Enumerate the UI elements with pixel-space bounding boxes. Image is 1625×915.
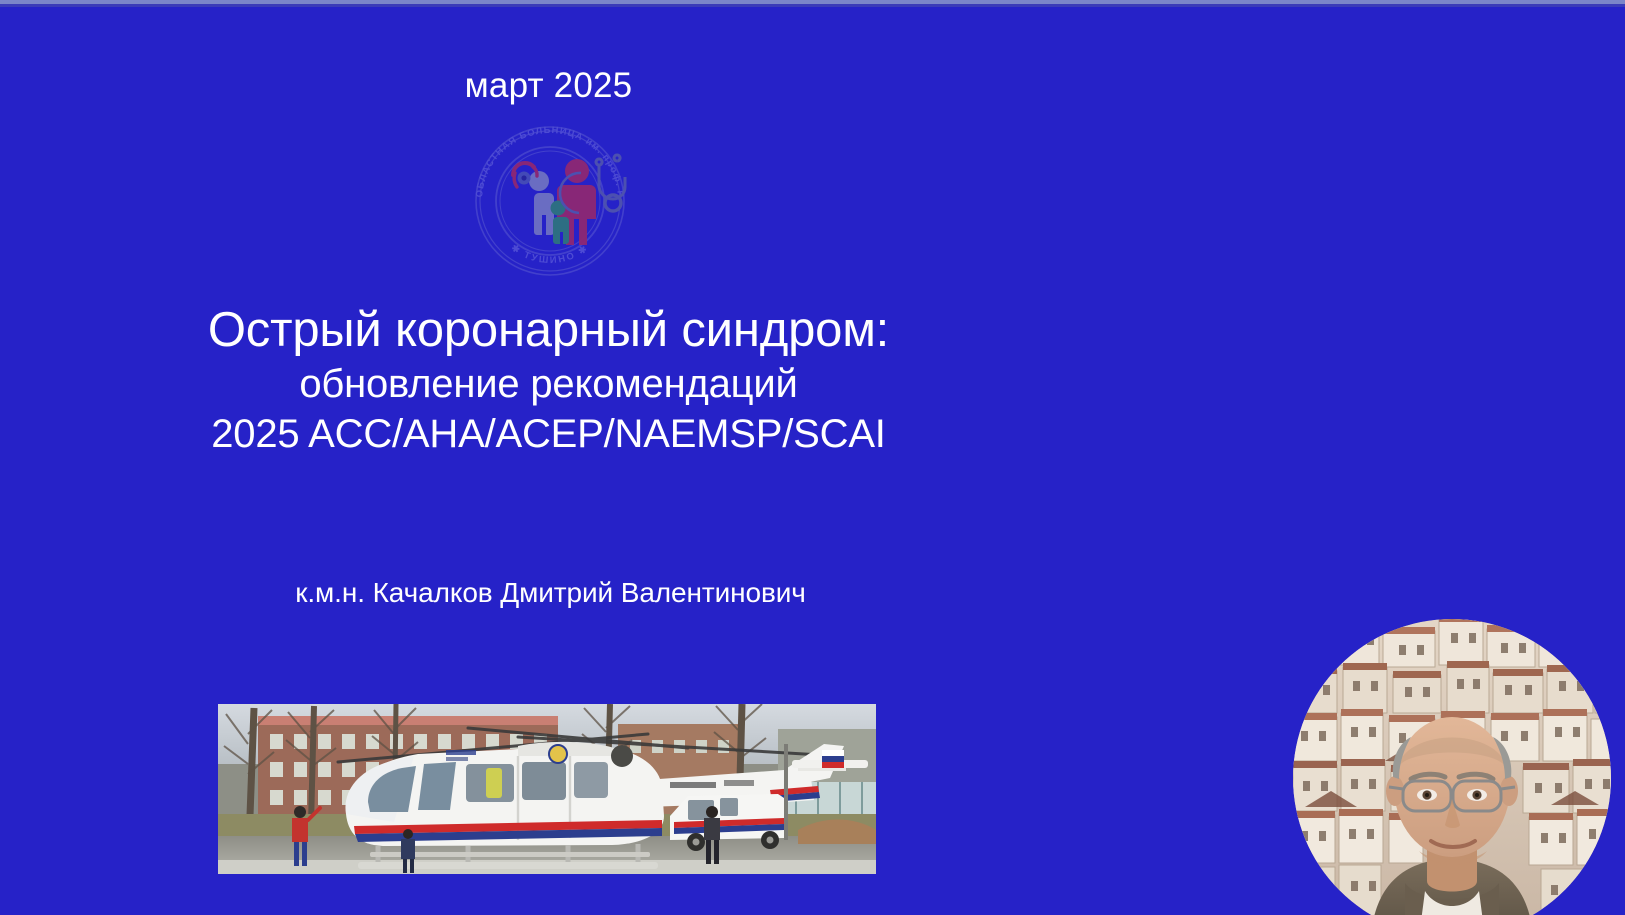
slide-title-line-3: 2025 ACC/AHA/ACEP/NAEMSP/SCAI bbox=[0, 409, 1097, 459]
svg-text:✱ ТУШИНО ✱: ✱ ТУШИНО ✱ bbox=[510, 242, 591, 265]
hospital-logo: МОСКОВСКАЯ ОБЛАСТНАЯ БОЛЬНИЦА им. проф. … bbox=[461, 113, 639, 278]
logo-ring-text-bottom: ✱ ТУШИНО ✱ bbox=[510, 242, 591, 265]
window-top-edge-shadow bbox=[0, 4, 1625, 7]
slide-title-line-1: Острый коронарный синдром: bbox=[0, 302, 1097, 359]
slide-date-label: март 2025 bbox=[0, 64, 1097, 108]
slide-title-block: Острый коронарный синдром: обновление ре… bbox=[0, 302, 1097, 459]
presenter-name: к.м.н. Качалков Дмитрий Валентинович bbox=[0, 576, 1101, 610]
slide-title-line-2: обновление рекомендаций bbox=[0, 359, 1097, 409]
air-ambulance-helicopter-photo bbox=[218, 704, 876, 874]
presenter-webcam-circle[interactable] bbox=[1293, 619, 1611, 915]
presentation-slide: март 2025 МОСКОВСКАЯ ОБЛАСТНАЯ БОЛЬНИЦА … bbox=[0, 0, 1625, 915]
